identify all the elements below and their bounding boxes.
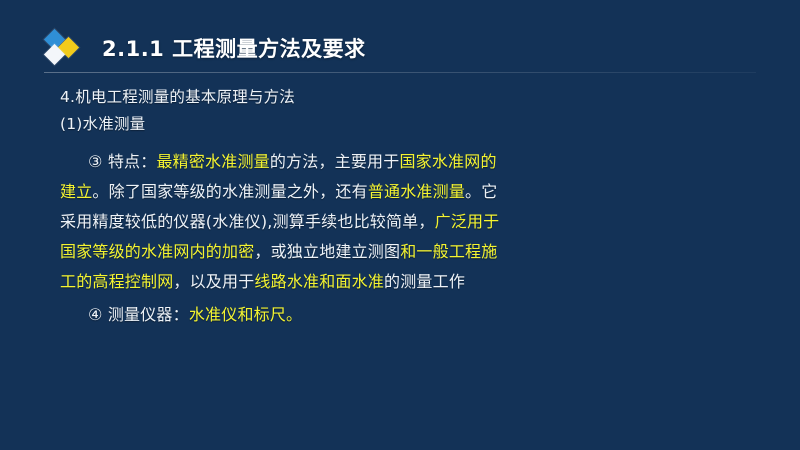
- text-run: 。它: [465, 182, 497, 201]
- text-run: ④ 测量仪器：: [88, 305, 189, 324]
- slide-header: 2.1.1 工程测量方法及要求: [0, 26, 800, 70]
- highlighted-text-run: 普通水准测量: [368, 182, 465, 201]
- highlighted-text-run: 水准仪和标尺。: [189, 305, 302, 324]
- highlighted-text-run: 最精密水准测量: [156, 152, 269, 171]
- section-heading-2: (1)水准测量: [60, 111, 760, 138]
- text-run: ，以及用于: [173, 272, 254, 291]
- header-divider: [44, 72, 756, 73]
- highlighted-text-run: 国家等级的水准网内的加密: [60, 242, 254, 261]
- text-run: 。除了国家等级的水准测量之外，还有: [92, 182, 367, 201]
- text-run: ③ 特点：: [88, 152, 156, 171]
- highlighted-text-run: 工的高程控制网: [60, 272, 173, 291]
- page-title: 2.1.1 工程测量方法及要求: [102, 33, 366, 63]
- slide-root: 2.1.1 工程测量方法及要求 4.机电工程测量的基本原理与方法 (1)水准测量…: [0, 0, 800, 450]
- highlighted-text-run: 和一般工程施: [400, 242, 497, 261]
- text-run: 的方法，主要用于: [270, 152, 400, 171]
- paragraph-line-2: 建立。除了国家等级的水准测量之外，还有普通水准测量。它: [60, 177, 760, 207]
- diamond-logo-icon: [44, 29, 88, 67]
- paragraph-line-3: 采用精度较低的仪器(水准仪),测算手续也比较简单，广泛用于: [60, 207, 760, 237]
- paragraph-line-1: ③ 特点：最精密水准测量的方法，主要用于国家水准网的: [60, 147, 760, 177]
- highlighted-text-run: 线路水准和面水准: [254, 272, 384, 291]
- text-run: ，或独立地建立测图: [254, 242, 400, 261]
- text-run: 采用精度较低的仪器(水准仪),测算手续也比较简单，: [60, 212, 435, 231]
- closing-line: ④ 测量仪器：水准仪和标尺。: [60, 300, 760, 330]
- text-run: 的测量工作: [384, 272, 465, 291]
- section-heading-1: 4.机电工程测量的基本原理与方法: [60, 84, 760, 111]
- paragraph-line-4: 国家等级的水准网内的加密，或独立地建立测图和一般工程施: [60, 237, 760, 267]
- paragraph-line-5: 工的高程控制网，以及用于线路水准和面水准的测量工作: [60, 267, 760, 297]
- highlighted-text-run: 广泛用于: [435, 212, 500, 231]
- highlighted-text-run: 国家水准网的: [399, 152, 496, 171]
- slide-body: 4.机电工程测量的基本原理与方法 (1)水准测量 ③ 特点：最精密水准测量的方法…: [60, 84, 760, 330]
- highlighted-text-run: 建立: [60, 182, 92, 201]
